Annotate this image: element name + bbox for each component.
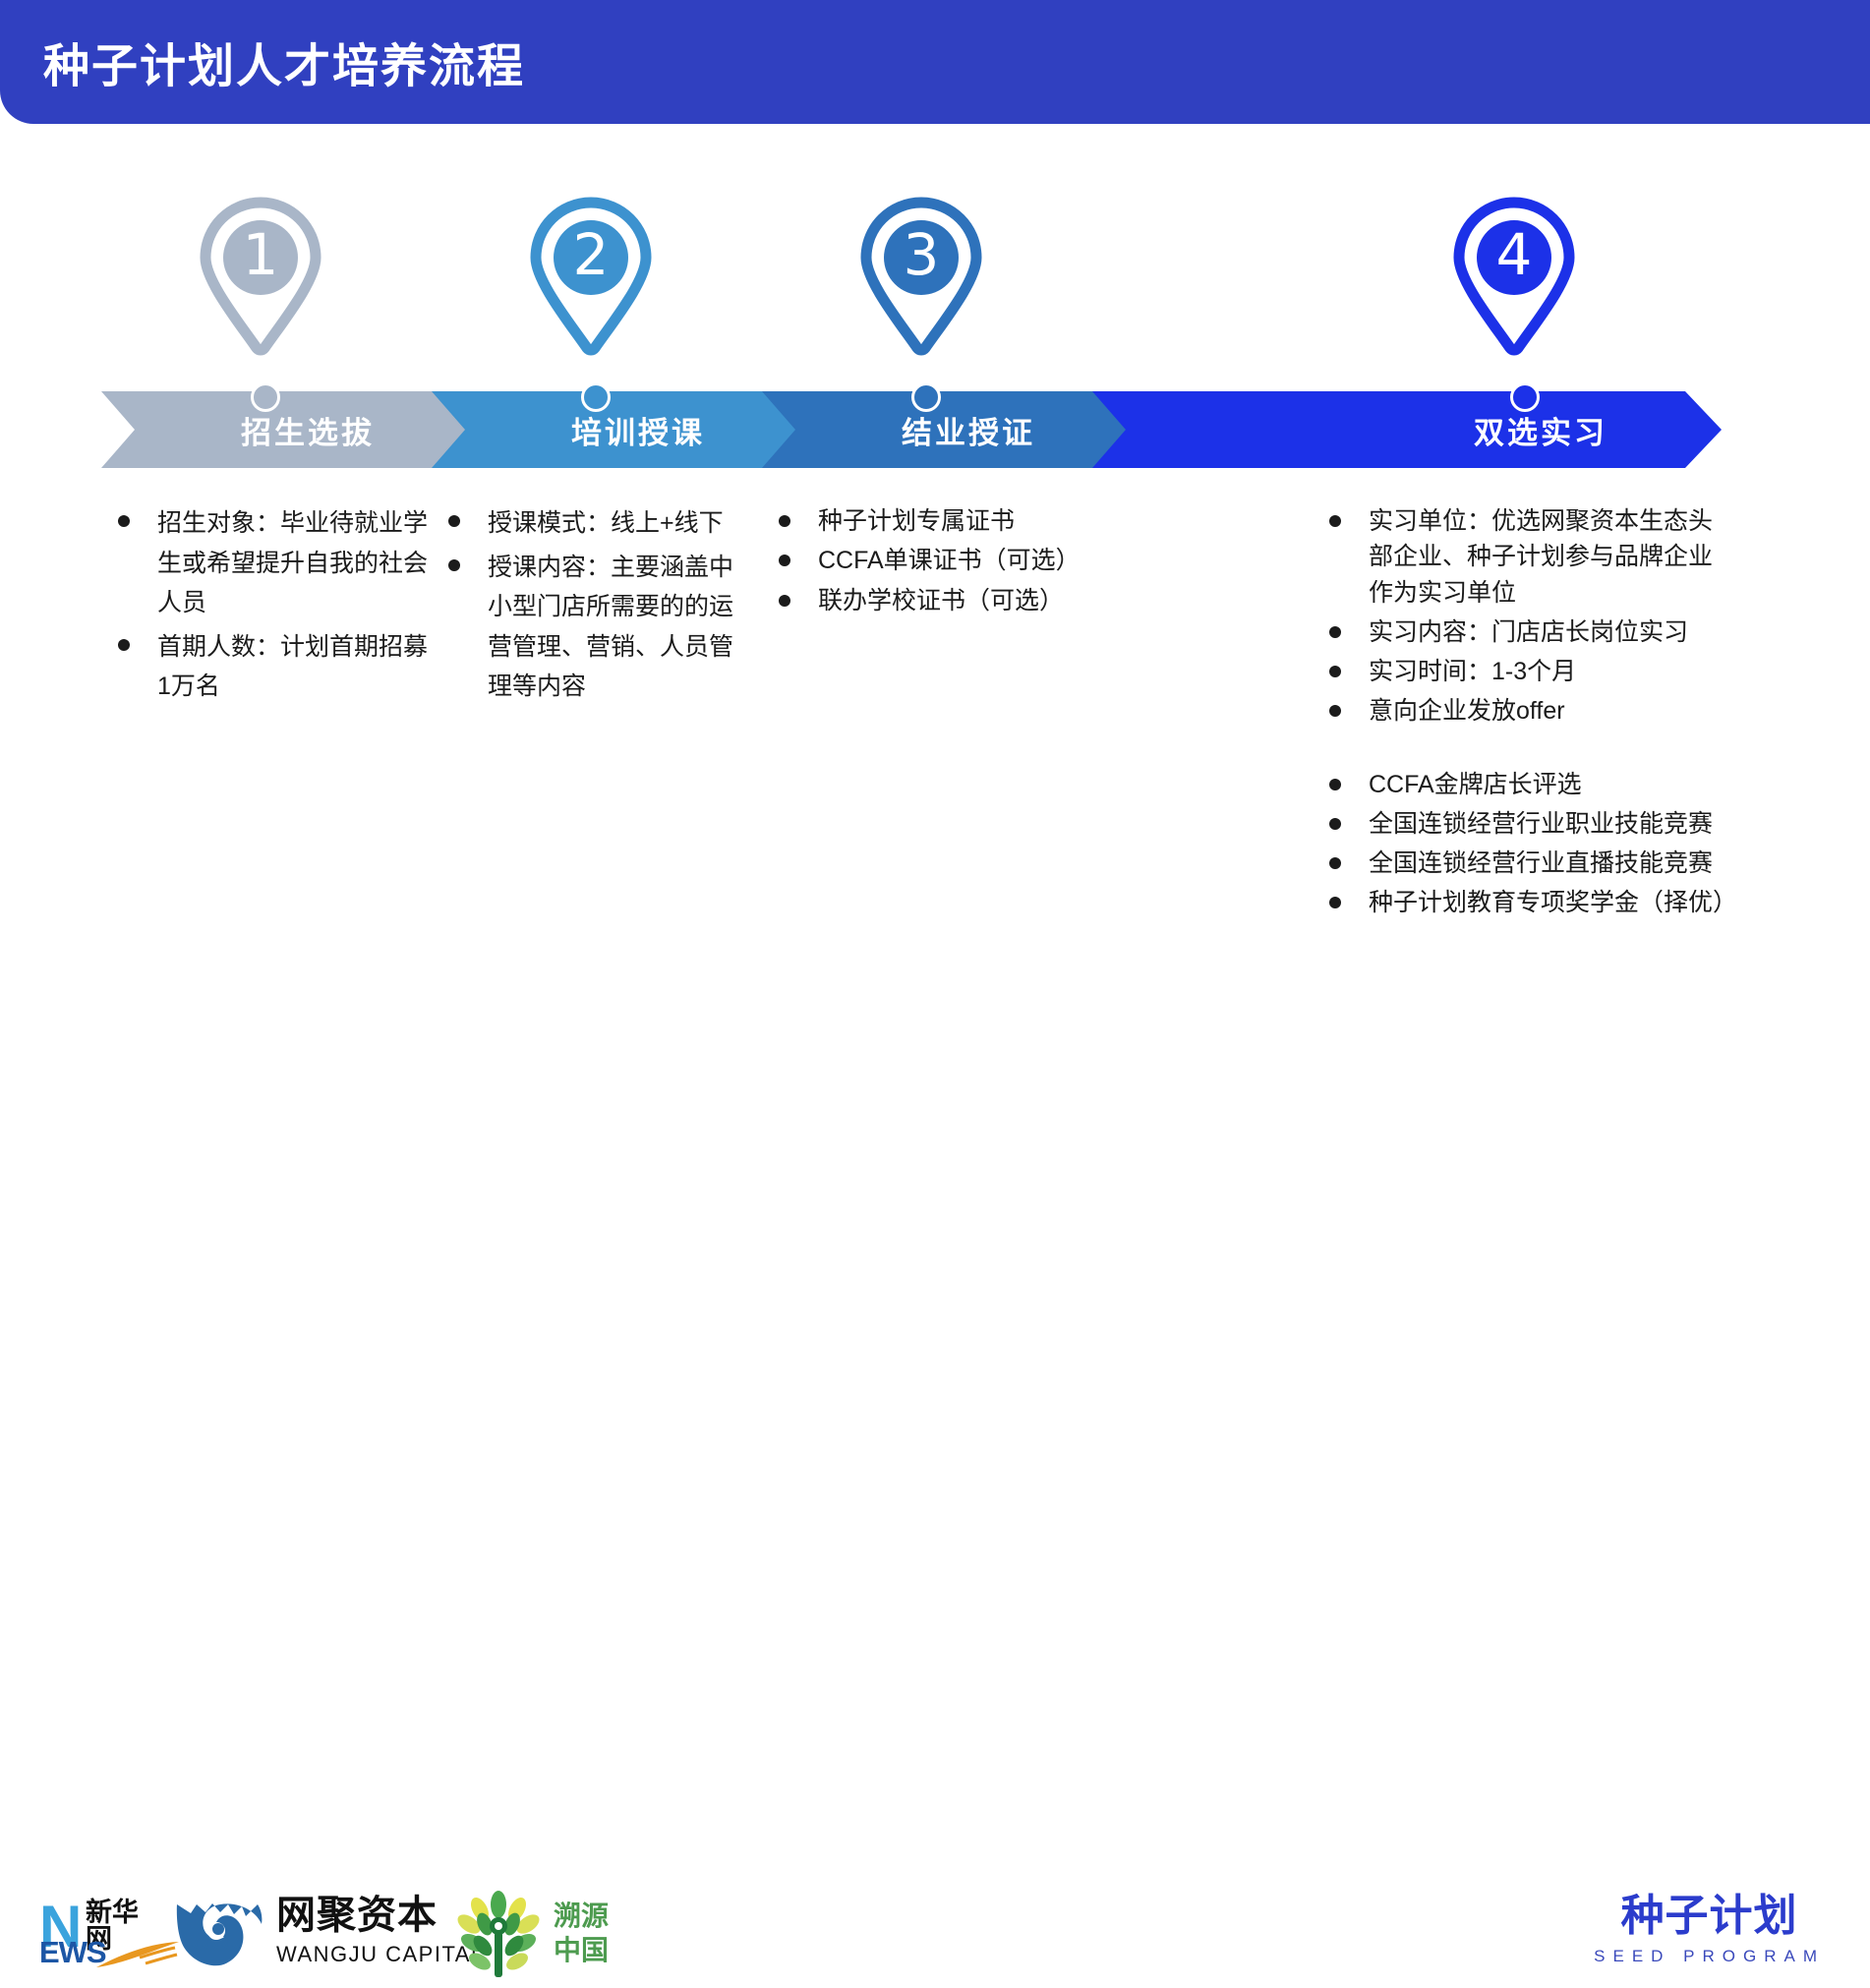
bullet-dot-icon [1329, 857, 1341, 869]
chevron-3-pin-dot [911, 382, 941, 412]
step-1-details: 招生对象：毕业待就业学生或希望提升自我的社会人员 首期人数：计划首期招募1万名 [106, 503, 431, 711]
list-item: 种子计划教育专项奖学金（择优） [1317, 885, 1730, 920]
list-item-text: 实习内容：门店店长岗位实习 [1369, 618, 1688, 646]
wangju-bird-icon [173, 1900, 267, 1969]
list-item-text: 意向企业发放offer [1369, 697, 1565, 725]
list-item-text: 种子计划专属证书 [818, 507, 1015, 535]
bullet-dot-icon [1329, 779, 1341, 790]
list-item: CCFA金牌店长评选 [1317, 767, 1730, 802]
process-chevron-band: 招生选拔 培训授课 结业授证 双选实习 [0, 391, 1870, 468]
chevron-2-label: 培训授课 [571, 408, 705, 452]
bullet-dot-icon [1329, 515, 1341, 527]
seed-program-en: SEED PROGRAM [1594, 1947, 1825, 1966]
bullet-list: 实习单位：优选网聚资本生态头部企业、种子计划参与品牌企业作为实习单位 实习内容：… [1317, 503, 1730, 730]
bullet-dot-icon [118, 639, 130, 651]
seed-program-cn: 种子计划 [1594, 1895, 1825, 1938]
suyuan-cn-line2: 中国 [554, 1933, 609, 1967]
step-detail-columns: 招生对象：毕业待就业学生或希望提升自我的社会人员 首期人数：计划首期招募1万名 … [0, 503, 1870, 897]
list-item: 实习单位：优选网聚资本生态头部企业、种子计划参与品牌企业作为实习单位 [1317, 503, 1730, 611]
bullet-dot-icon [1329, 897, 1341, 908]
xinhuanet-logo: N 新华网 EWS [39, 1898, 152, 1968]
bullet-dot-icon [1329, 666, 1341, 677]
chevron-1-label: 招生选拔 [241, 408, 375, 452]
tree-leaf-icon [447, 1891, 550, 1983]
step-4-number: 4 [1449, 226, 1579, 283]
bullet-dot-icon [448, 515, 460, 527]
step-3-details: 种子计划专属证书 CCFA单课证书（可选） 联办学校证书（可选） [767, 503, 1101, 622]
list-item: 授课内容：主要涵盖中小型门店所需要的的运营管理、营销、人员管理等内容 [437, 548, 741, 707]
list-item: 实习时间：1-3个月 [1317, 654, 1730, 689]
bullet-dot-icon [1329, 818, 1341, 830]
step-pin-row: 1 2 3 4 [0, 197, 1870, 393]
bullet-list-secondary: CCFA金牌店长评选 全国连锁经营行业职业技能竞赛 全国连锁经营行业直播技能竞赛… [1317, 767, 1730, 921]
list-item: 全国连锁经营行业职业技能竞赛 [1317, 806, 1730, 842]
step-4-details: 实习单位：优选网聚资本生态头部企业、种子计划参与品牌企业作为实习单位 实习内容：… [1317, 503, 1730, 925]
list-item: 实习内容：门店店长岗位实习 [1317, 614, 1730, 650]
suyuan-cn-line1: 溯源 [554, 1899, 609, 1933]
suyuan-cn-text: 溯源 中国 [554, 1899, 609, 1967]
step-4-pin[interactable]: 4 [1449, 197, 1579, 383]
list-item: 授课模式：线上+线下 [437, 503, 741, 544]
bullet-list: 招生对象：毕业待就业学生或希望提升自我的社会人员 首期人数：计划首期招募1万名 [106, 503, 431, 707]
list-item-text: 首期人数：计划首期招募1万名 [157, 633, 428, 701]
wangju-cn-text: 网聚资本 [276, 1895, 438, 1936]
list-item-text: 实习单位：优选网聚资本生态头部企业、种子计划参与品牌企业作为实习单位 [1369, 507, 1713, 607]
list-item-text: 种子计划教育专项奖学金（择优） [1369, 889, 1737, 916]
chevron-3-label: 结业授证 [902, 408, 1035, 452]
footer-logo-bar: N 新华网 EWS 网聚资本 WANGJU CAPITAL [0, 939, 1870, 1066]
step-2-number: 2 [526, 226, 656, 283]
list-item-text: 全国连锁经营行业职业技能竞赛 [1369, 810, 1713, 838]
list-item-text: 授课内容：主要涵盖中小型门店所需要的的运营管理、营销、人员管理等内容 [488, 554, 733, 701]
list-item-text: 实习时间：1-3个月 [1369, 658, 1576, 685]
bullet-dot-icon [118, 515, 130, 527]
bullet-dot-icon [779, 595, 790, 607]
list-item: 全国连锁经营行业直播技能竞赛 [1317, 846, 1730, 881]
step-2-details: 授课模式：线上+线下 授课内容：主要涵盖中小型门店所需要的的运营管理、营销、人员… [437, 503, 741, 711]
seed-program-logo: 种子计划 SEED PROGRAM [1594, 1895, 1825, 1966]
step-1-number: 1 [196, 226, 325, 283]
bullet-group-spacer [1317, 733, 1730, 767]
chevron-step-4[interactable]: 双选实习 [1092, 391, 1722, 468]
chevron-4-pin-dot [1510, 382, 1540, 412]
chevron-4-label: 双选实习 [1474, 408, 1607, 452]
step-2-pin[interactable]: 2 [526, 197, 656, 383]
chevron-1-pin-dot [251, 382, 280, 412]
list-item: 种子计划专属证书 [767, 503, 1101, 539]
list-item: 意向企业发放offer [1317, 693, 1730, 729]
swoosh-icon [94, 1941, 181, 1970]
list-item: 首期人数：计划首期招募1万名 [106, 627, 431, 707]
step-3-number: 3 [856, 226, 986, 283]
bullet-dot-icon [779, 555, 790, 566]
page-title: 种子计划人才培养流程 [43, 29, 525, 96]
list-item-text: 授课模式：线上+线下 [488, 509, 724, 537]
bullet-list: 授课模式：线上+线下 授课内容：主要涵盖中小型门店所需要的的运营管理、营销、人员… [437, 503, 741, 707]
list-item-text: CCFA金牌店长评选 [1369, 771, 1582, 798]
bullet-dot-icon [1329, 705, 1341, 717]
step-1-pin[interactable]: 1 [196, 197, 325, 383]
list-item: CCFA单课证书（可选） [767, 543, 1101, 578]
list-item-text: 招生对象：毕业待就业学生或希望提升自我的社会人员 [157, 509, 428, 616]
suyuan-china-logo: 溯源 中国 [447, 1891, 550, 1988]
list-item-text: CCFA单课证书（可选） [818, 547, 1081, 574]
list-item-text: 全国连锁经营行业直播技能竞赛 [1369, 849, 1713, 877]
bullet-dot-icon [779, 515, 790, 527]
list-item: 招生对象：毕业待就业学生或希望提升自我的社会人员 [106, 503, 431, 623]
step-3-pin[interactable]: 3 [856, 197, 986, 383]
bullet-dot-icon [448, 559, 460, 571]
bullet-dot-icon [1329, 626, 1341, 638]
bullet-list: 种子计划专属证书 CCFA单课证书（可选） 联办学校证书（可选） [767, 503, 1101, 618]
list-item: 联办学校证书（可选） [767, 583, 1101, 618]
page-header: 种子计划人才培养流程 [0, 0, 1870, 124]
chevron-2-pin-dot [581, 382, 611, 412]
chevron-shape [1092, 391, 1722, 468]
list-item-text: 联办学校证书（可选） [818, 587, 1064, 614]
